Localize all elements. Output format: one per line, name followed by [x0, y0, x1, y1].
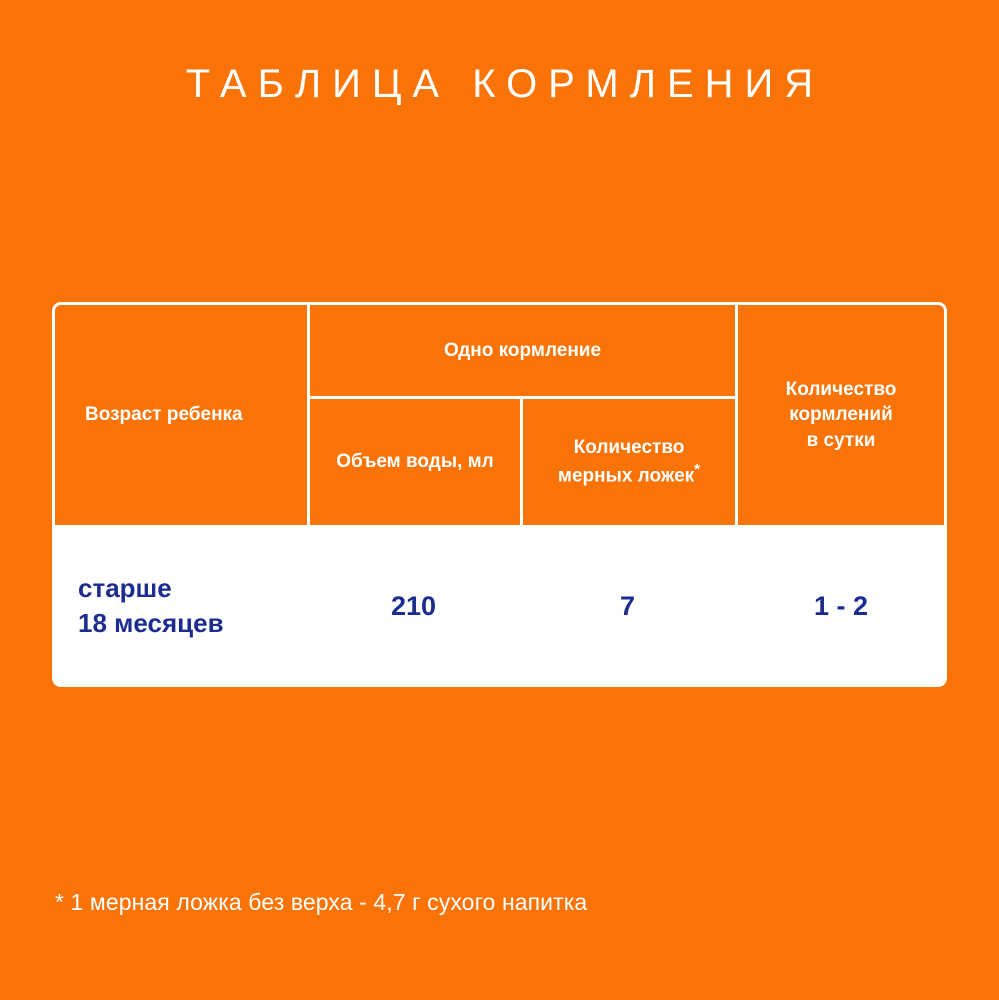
header-feedings-line3: в сутки	[807, 430, 876, 451]
table-row: старше 18 месяцев 210 7 1 - 2	[52, 525, 947, 687]
feeding-table: Возраст ребенка Одно кормление Количеств…	[52, 302, 947, 687]
cell-feedings-per-day-value: 1 - 2	[735, 525, 947, 687]
feeding-table-page: ТАБЛИЦА КОРМЛЕНИЯ Возраст ребенка Одно к…	[0, 0, 999, 1000]
table-header-row-top: Возраст ребенка Одно кормление Количеств…	[52, 302, 947, 396]
header-feedings-line1: Количество	[786, 379, 897, 400]
age-line1: старше	[78, 573, 172, 603]
header-cell-scoops: Количество мерных ложек*	[520, 396, 735, 525]
header-scoops-line2: мерных ложек	[558, 466, 694, 487]
header-cell-one-feeding: Одно кормление	[307, 302, 735, 396]
footnote-marker-icon: *	[694, 461, 700, 478]
header-cell-water-volume: Объем воды, мл	[307, 396, 520, 525]
page-title: ТАБЛИЦА КОРМЛЕНИЯ	[0, 62, 999, 106]
header-cell-feedings-per-day: Количество кормлений в сутки	[735, 302, 947, 525]
header-scoops-line1: Количество	[574, 437, 685, 458]
cell-water-volume-value: 210	[307, 525, 520, 687]
age-line2: 18 месяцев	[78, 608, 224, 638]
feeding-table-grid: Возраст ребенка Одно кормление Количеств…	[52, 302, 947, 687]
header-cell-age: Возраст ребенка	[52, 302, 307, 525]
footnote-text: * 1 мерная ложка без верха - 4,7 г сухог…	[55, 888, 935, 918]
header-feedings-line2: кормлений	[789, 404, 893, 425]
cell-scoops-value: 7	[520, 525, 735, 687]
cell-age-value: старше 18 месяцев	[52, 525, 307, 687]
